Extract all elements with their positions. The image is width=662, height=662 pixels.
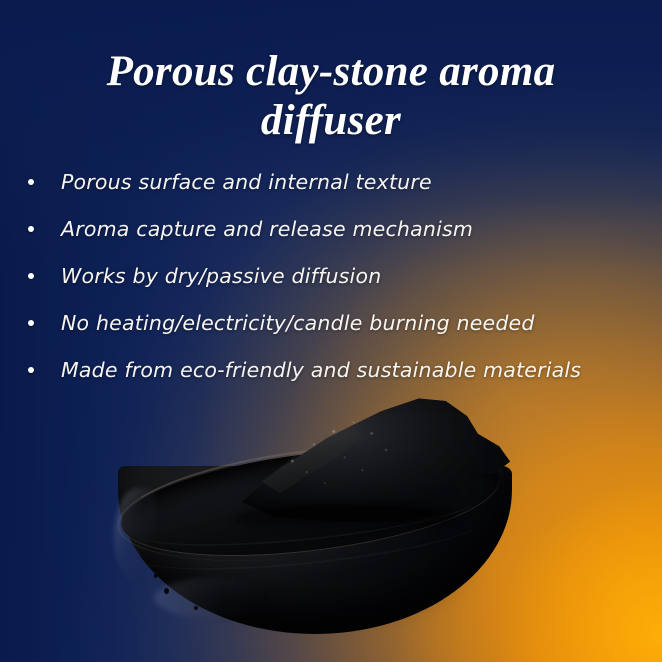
bowl-pore [154, 574, 157, 578]
slide-title: Porous clay-stone aroma diffuser [0, 47, 662, 145]
bowl-bottom-highlight [154, 578, 274, 618]
bowl-interior-shadow [234, 504, 454, 534]
bullet-text: Aroma capture and release mechanism [61, 217, 473, 241]
list-item: No heating/electricity/candle burning ne… [0, 299, 662, 346]
bullet-dot-icon [28, 320, 34, 326]
list-item: Works by dry/passive diffusion [0, 252, 662, 299]
list-item: Made from eco-friendly and sustainable m… [0, 346, 662, 393]
bullet-dot-icon [28, 226, 34, 232]
bullet-dot-icon [28, 273, 34, 279]
bullet-dot-icon [28, 367, 34, 373]
product-photo [110, 392, 525, 640]
feature-bullet-list: Porous surface and internal texture Arom… [0, 158, 662, 393]
bowl-pore [194, 606, 198, 610]
bowl-pore [164, 588, 169, 594]
bowl-left-highlight [114, 488, 156, 580]
bullet-text: Made from eco-friendly and sustainable m… [61, 358, 581, 382]
list-item: Aroma capture and release mechanism [0, 205, 662, 252]
list-item: Porous surface and internal texture [0, 158, 662, 205]
bullet-text: Works by dry/passive diffusion [61, 264, 381, 288]
promo-slide: Porous clay-stone aroma diffuser Porous … [0, 0, 662, 662]
bullet-dot-icon [28, 179, 34, 185]
bullet-text: No heating/electricity/candle burning ne… [61, 311, 535, 335]
bullet-text: Porous surface and internal texture [61, 170, 432, 194]
